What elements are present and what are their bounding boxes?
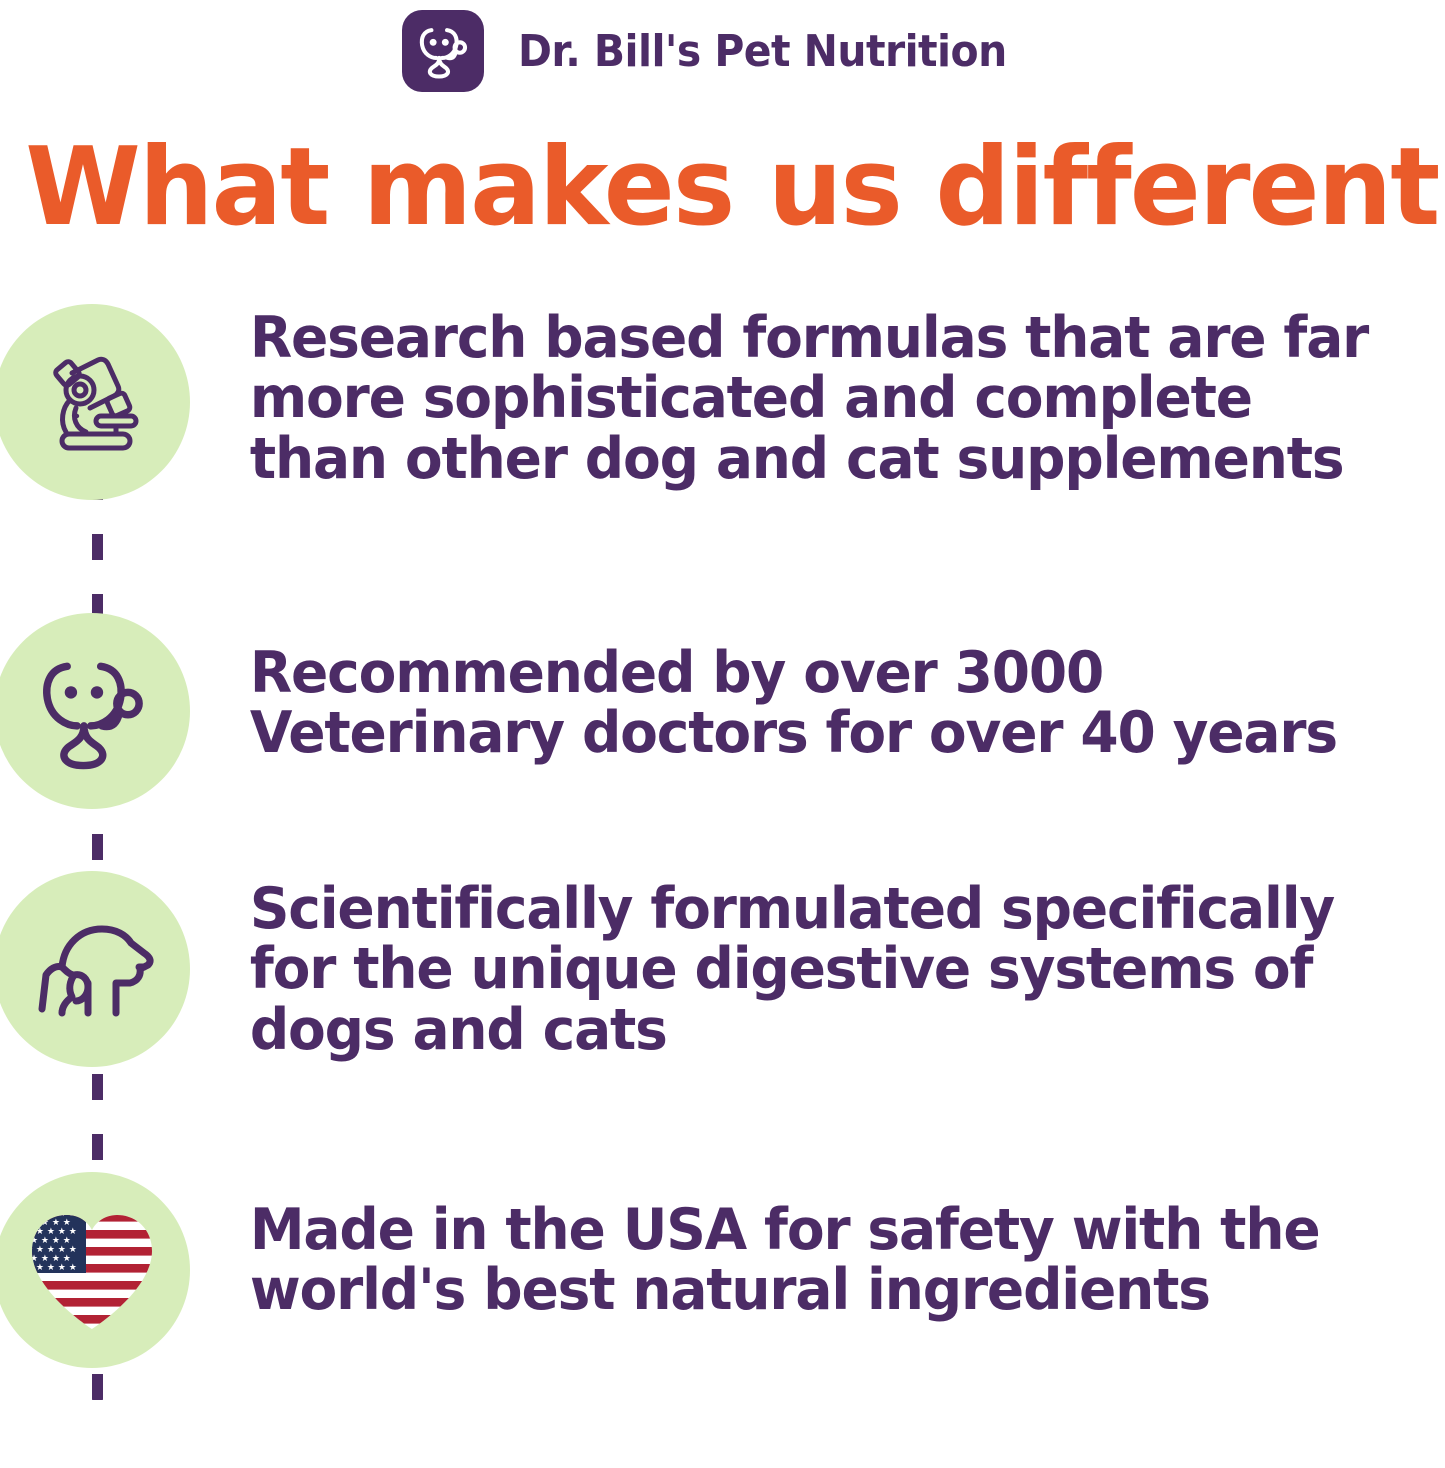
- list-item: Recommended by over 3000 Veterinary doct…: [0, 613, 1445, 809]
- stethoscope-icon: [0, 613, 190, 809]
- stethoscope-smiley-icon: [402, 10, 484, 92]
- usa-flag-heart-icon: ★ ★ ★ ★ ★ ★ ★ ★ ★ ★ ★ ★ ★ ★ ★ ★ ★ ★ ★ ★ …: [0, 1172, 190, 1368]
- microscope-icon: [0, 304, 190, 500]
- list-item-label: Made in the USA for safety with the worl…: [190, 1172, 1401, 1321]
- list-item-label: Scientifically formulated specifically f…: [190, 871, 1401, 1060]
- list-item-label: Recommended by over 3000 Veterinary doct…: [190, 613, 1401, 764]
- dog-and-cat-icon: [0, 871, 190, 1067]
- brand-name: Dr. Bill's Pet Nutrition: [518, 26, 1007, 77]
- benefits-list: Research based formulas that are far mor…: [0, 304, 1445, 1368]
- svg-text:★ ★ ★ ★ ★: ★ ★ ★ ★ ★: [25, 1263, 77, 1273]
- list-item-label: Research based formulas that are far mor…: [190, 304, 1401, 489]
- page-title: What makes us different?: [0, 90, 1402, 242]
- list-item: Scientifically formulated specifically f…: [0, 871, 1445, 1067]
- list-item: ★ ★ ★ ★ ★ ★ ★ ★ ★ ★ ★ ★ ★ ★ ★ ★ ★ ★ ★ ★ …: [0, 1172, 1445, 1368]
- list-item: Research based formulas that are far mor…: [0, 304, 1445, 500]
- brand-header: Dr. Bill's Pet Nutrition: [0, 0, 1445, 90]
